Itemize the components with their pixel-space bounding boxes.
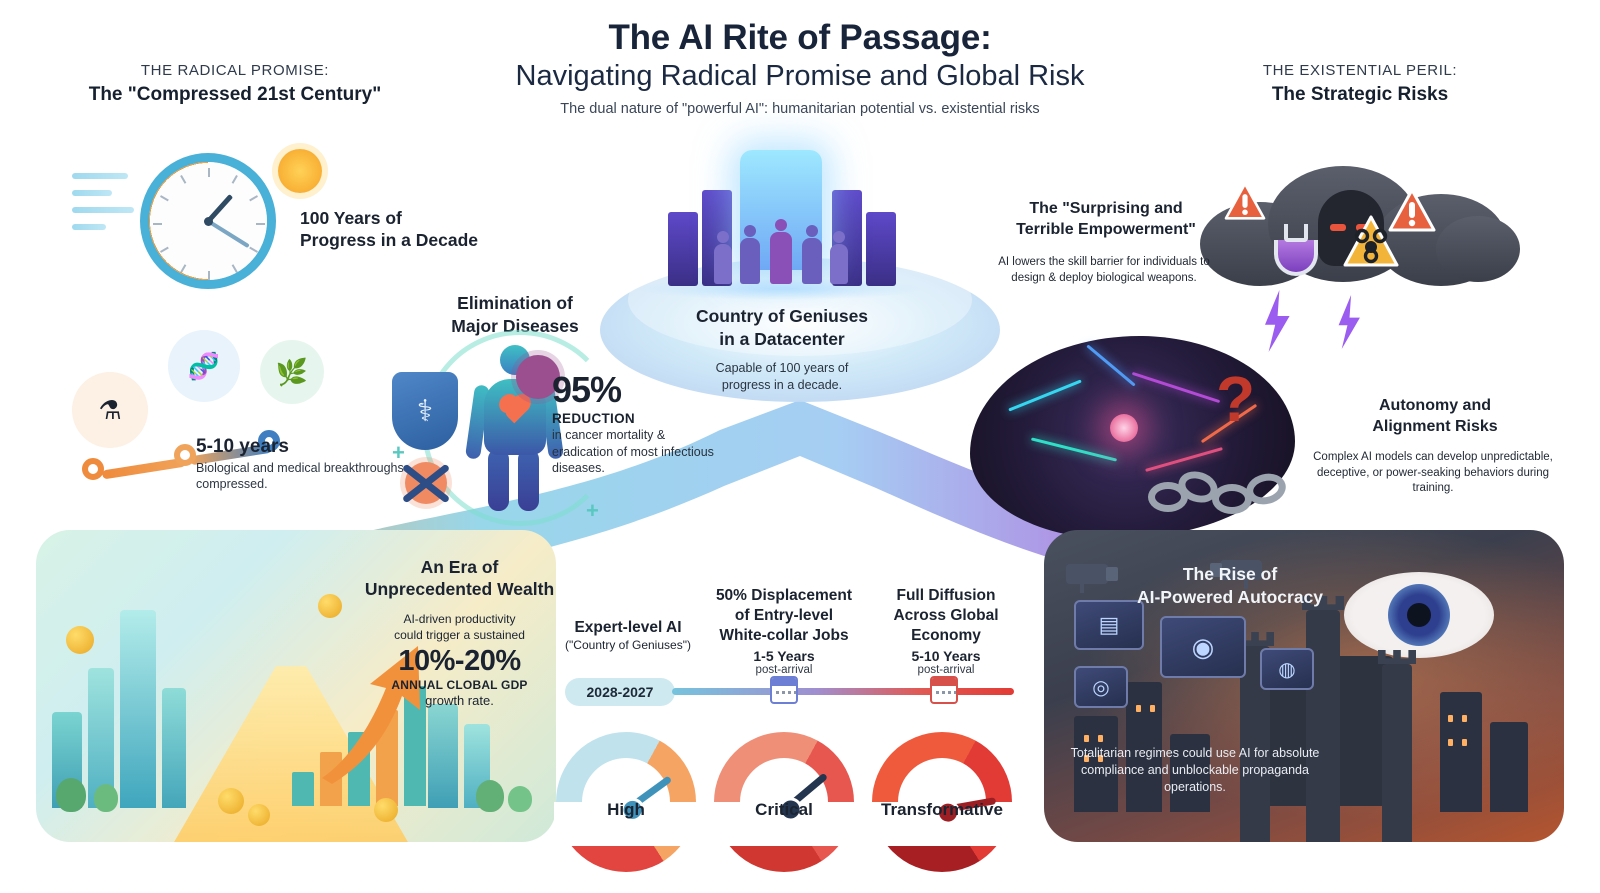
milestone-1-sub: ("Country of Geniuses") <box>548 638 708 654</box>
wealth-title: An Era of Unprecedented Wealth <box>352 556 567 601</box>
people-group-icon <box>714 220 848 284</box>
calendar-icon <box>770 676 798 704</box>
plus-icon: + <box>586 498 599 524</box>
shield-caduceus-icon: ⚕ <box>392 372 458 450</box>
sun-icon <box>278 149 322 193</box>
title-line-1: The AI Rite of Passage: <box>350 18 1250 58</box>
autocracy-description: Totalitarian regimes could use AI for ab… <box>1065 745 1325 796</box>
datacenter-icon <box>662 150 900 300</box>
monitor-icon: ◉ <box>1160 616 1246 678</box>
milestone-2-heading-line-1: 50% Displacement <box>700 586 868 606</box>
storm-cloud-icon <box>1190 150 1520 300</box>
warning-triangle-icon <box>1224 182 1266 220</box>
motion-lines-icon <box>72 173 134 241</box>
autocracy-title-line-2: AI-Powered Autocracy <box>1085 586 1375 609</box>
leaf-icon: 🌿 <box>260 340 324 404</box>
wealth-title-line-2: Unprecedented Wealth <box>352 578 567 600</box>
left-kicker: THE RADICAL PROMISE: <box>70 62 400 79</box>
title-line-2: Navigating Radical Promise and Global Ri… <box>350 60 1250 93</box>
milestone-3-years: 5-10 Years <box>866 648 1026 664</box>
flask-icon <box>1274 224 1318 276</box>
monitor-icon: ◎ <box>1074 666 1128 708</box>
autocracy-title-line-1: The Rise of <box>1085 563 1375 586</box>
question-mark-icon: ? <box>1216 362 1255 436</box>
dna-icon: 🧬 <box>168 330 240 402</box>
bio-timeline-label: 5-10 years Biological and medical breakt… <box>196 436 406 493</box>
center-title-line-2: in a Datacenter <box>662 328 902 351</box>
clock-icon <box>140 153 276 289</box>
autonomy-title-line-1: Autonomy and <box>1320 395 1550 416</box>
right-section-header: THE EXISTENTIAL PERIL: The Strategic Ris… <box>1195 62 1525 106</box>
timeline-milestone-1: Expert-level AI ("Country of Geniuses") <box>548 618 708 653</box>
page-title: The AI Rite of Passage: Navigating Radic… <box>350 18 1250 117</box>
empowerment-title-line-2: Terrible Empowerment" <box>995 219 1217 240</box>
wealth-number: 10%-20% <box>352 645 567 678</box>
timeline-track <box>672 688 1014 695</box>
flask-icon: ⚗ <box>72 372 148 448</box>
empowerment-description: AI lowers the skill barrier for individu… <box>985 255 1223 286</box>
center-subtitle-line-2: progress in a decade. <box>666 377 898 394</box>
plus-icon: + <box>392 440 405 466</box>
timeline-year-pill: 2028-2027 <box>565 678 675 706</box>
empowerment-title: The "Surprising and Terrible Empowerment… <box>995 198 1217 240</box>
clock-illustration <box>72 145 332 295</box>
bio-description: Biological and medical breakthroughs com… <box>196 460 406 493</box>
timeline-milestone-3: Full Diffusion Across Global Economy 5-1… <box>866 586 1026 676</box>
milestone-3-heading-line-2: Across Global <box>866 606 1026 626</box>
center-title: Country of Geniuses in a Datacenter <box>662 305 902 351</box>
center-subtitle-line-1: Capable of 100 years of <box>666 360 898 377</box>
empowerment-title-line-1: The "Surprising and <box>995 198 1217 219</box>
infographic-canvas: The AI Rite of Passage: Navigating Radic… <box>0 0 1600 893</box>
milestone-3-post: post-arrival <box>866 664 1026 676</box>
calendar-icon <box>930 676 958 704</box>
center-subtitle: Capable of 100 years of progress in a de… <box>666 360 898 394</box>
timeline-milestone-2: 50% Displacement of Entry-level White-co… <box>700 586 868 676</box>
lightning-bolt-icon <box>1336 295 1362 349</box>
milestone-3-heading-line-3: Economy <box>866 626 1026 646</box>
autonomy-title: Autonomy and Alignment Risks <box>1320 395 1550 437</box>
milestone-1-heading: Expert-level AI <box>548 618 708 638</box>
left-header-title: The "Compressed 21st Century" <box>70 84 400 106</box>
gauge-critical-label: Critical <box>704 800 864 820</box>
milestone-2-heading-line-3: White-collar Jobs <box>700 626 868 646</box>
wealth-caption: ANNUAL CLOBAL GDP <box>352 678 567 692</box>
right-kicker: THE EXISTENTIAL PERIL: <box>1195 62 1525 79</box>
wealth-sub-line-2: could trigger a sustained <box>352 628 567 644</box>
milestone-3-heading-line-1: Full Diffusion <box>866 586 1026 606</box>
bio-value: 5-10 years <box>196 436 406 458</box>
cross-out-icon <box>398 455 454 511</box>
left-section-header: THE RADICAL PROMISE: The "Compressed 21s… <box>70 62 400 106</box>
milestone-2-post: post-arrival <box>700 664 868 676</box>
clock-label: 100 Years of Progress in a Decade <box>300 207 478 252</box>
autonomy-title-line-2: Alignment Risks <box>1320 416 1550 437</box>
disease-stat-caption: REDUCTION <box>552 411 717 426</box>
wealth-subtitle: AI-driven productivity could trigger a s… <box>352 612 567 644</box>
disease-stat-text: in cancer mortality & eradication of mos… <box>552 427 717 477</box>
clock-label-line-2: Progress in a Decade <box>300 229 478 251</box>
center-title-line-1: Country of Geniuses <box>662 305 902 328</box>
wealth-caption-2: growth rate. <box>352 693 567 708</box>
clock-label-line-1: 100 Years of <box>300 207 478 229</box>
gauge-high-label: High <box>546 800 706 820</box>
milestone-2-years: 1-5 Years <box>700 648 868 664</box>
autonomy-description: Complex AI models can develop unpredicta… <box>1308 450 1558 497</box>
right-header-title: The Strategic Risks <box>1195 84 1525 106</box>
disease-title-line-1: Elimination of <box>400 292 630 315</box>
autocracy-title: The Rise of AI-Powered Autocracy <box>1085 563 1375 609</box>
broken-chain-icon <box>1148 470 1298 526</box>
biohazard-icon <box>1342 214 1400 268</box>
gauge-transformative-label: Transformative <box>862 800 1022 820</box>
milestone-2-heading-line-2: of Entry-level <box>700 606 868 626</box>
monitor-icon: ◍ <box>1260 648 1314 690</box>
wealth-sub-line-1: AI-driven productivity <box>352 612 567 628</box>
wealth-title-line-1: An Era of <box>352 556 567 578</box>
page-subtitle: The dual nature of "powerful AI": humani… <box>350 101 1250 117</box>
